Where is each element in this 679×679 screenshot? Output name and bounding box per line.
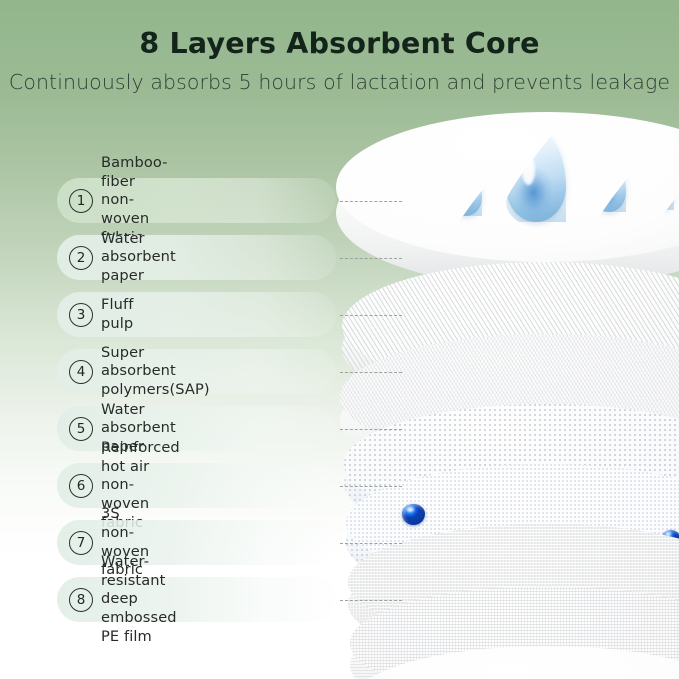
connector-line-4 [340, 372, 402, 373]
connector-line-6 [340, 486, 402, 487]
layer-number-badge: 7 [69, 531, 93, 555]
callout-pill [57, 577, 336, 622]
connector-line-3 [340, 315, 402, 316]
callout-pill [57, 520, 336, 565]
connector-line-2 [340, 258, 402, 259]
layer-label: Fluff pulp [101, 292, 133, 337]
infographic-canvas: 8 Layers Absorbent Core Continuously abs… [0, 0, 679, 679]
callout-pill [57, 463, 336, 508]
layer-label: Super absorbent polymers(SAP) [101, 349, 210, 394]
layer-callout-list: 1 Bamboo-fiber non-woven fabric 2 Water … [0, 0, 679, 679]
page-title: 8 Layers Absorbent Core [0, 0, 679, 61]
connector-line-7 [340, 543, 402, 544]
callout-pill [57, 406, 336, 451]
connector-line-1 [340, 201, 402, 202]
callout-pill [57, 178, 336, 223]
layer-number-badge: 8 [69, 588, 93, 612]
layer-label: Bamboo-fiber non-woven fabric [101, 178, 168, 223]
layer-number-badge: 1 [69, 189, 93, 213]
callout-pill [57, 235, 336, 280]
layer-number-badge: 6 [69, 474, 93, 498]
connector-line-8 [340, 600, 402, 601]
layer-label: Water-resistant deep embossed PE film [101, 577, 177, 622]
callout-pill [57, 292, 336, 337]
header-block: 8 Layers Absorbent Core Continuously abs… [0, 0, 679, 95]
connector-line-5 [340, 429, 402, 430]
layer-number-badge: 2 [69, 246, 93, 270]
layer-label: Water absorbent paper [101, 235, 176, 280]
layer-label: Reinforced hot air non-woven fabric [101, 463, 180, 508]
page-subtitle: Continuously absorbs 5 hours of lactatio… [0, 61, 679, 95]
layer-number-badge: 4 [69, 360, 93, 384]
layer-number-badge: 3 [69, 303, 93, 327]
layer-number-badge: 5 [69, 417, 93, 441]
